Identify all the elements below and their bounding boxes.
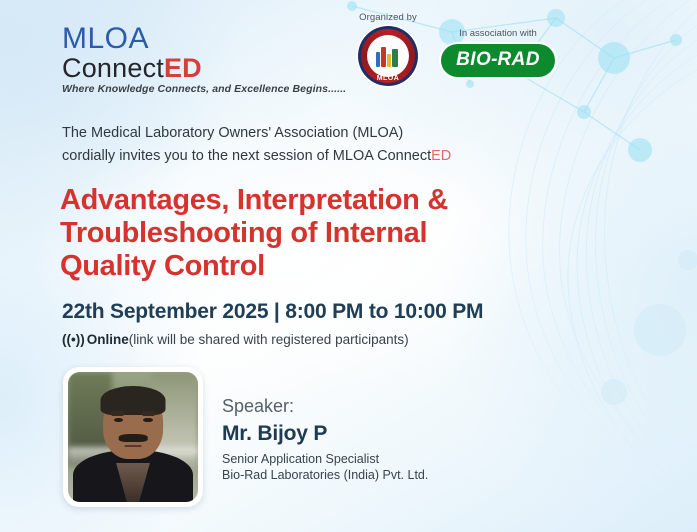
mloa-seal-logo: MLOA	[358, 26, 418, 86]
event-flyer: MLOA ConnectED Where Knowledge Connects,…	[0, 0, 697, 532]
biorad-text-rad: RAD	[497, 49, 539, 70]
speaker-organization: Bio-Rad Laboratories (India) Pvt. Ltd.	[222, 468, 428, 483]
broadcast-icon: ((•))	[62, 332, 85, 347]
session-title-line-1: Advantages, Interpretation &	[60, 184, 580, 217]
event-mode-label: Online	[87, 332, 129, 347]
brand-line-mloa: MLOA	[62, 24, 346, 54]
seal-label: MLOA	[358, 75, 418, 82]
event-mode-note: (link will be shared with registered par…	[129, 332, 409, 347]
in-association-caption: In association with	[434, 28, 562, 39]
invitation-line-1: The Medical Laboratory Owners' Associati…	[62, 122, 451, 145]
speaker-details: Speaker: Mr. Bijoy P Senior Application …	[222, 396, 428, 483]
invitation-text: The Medical Laboratory Owners' Associati…	[62, 122, 451, 169]
invitation-ed-accent: ED	[431, 148, 451, 164]
mloa-connected-logo: MLOA ConnectED Where Knowledge Connects,…	[62, 24, 346, 95]
organizer-block: Organized by MLOA	[346, 12, 430, 86]
biorad-text-bio: BIO	[456, 49, 491, 70]
speaker-portrait	[68, 372, 198, 502]
speaker-label: Speaker:	[222, 396, 428, 417]
invitation-line-2-text: cordially invites you to the next sessio…	[62, 148, 431, 164]
brand-ed-accent: ED	[164, 53, 202, 83]
event-mode-line: ((•))Online(link will be shared with reg…	[62, 332, 409, 347]
speaker-role: Senior Application Specialist	[222, 452, 428, 467]
session-title: Advantages, Interpretation & Troubleshoo…	[60, 184, 580, 283]
event-datetime: 22th September 2025 | 8:00 PM to 10:00 P…	[62, 300, 483, 324]
brand-connect-text: Connect	[62, 53, 164, 83]
association-block: In association with BIO-RAD	[434, 28, 562, 77]
session-title-line-3: Quality Control	[60, 250, 580, 283]
organized-by-caption: Organized by	[346, 12, 430, 23]
invitation-line-2: cordially invites you to the next sessio…	[62, 145, 451, 168]
seal-inner-disc	[367, 35, 409, 77]
session-title-line-2: Troubleshooting of Internal	[60, 217, 580, 250]
brand-line-connected: ConnectED	[62, 55, 346, 82]
speaker-photo	[63, 367, 203, 507]
speaker-name: Mr. Bijoy P	[222, 422, 428, 447]
seal-lab-icons	[375, 45, 401, 67]
biorad-logo: BIO-RAD	[441, 44, 555, 77]
brand-tagline: Where Knowledge Connects, and Excellence…	[62, 84, 346, 95]
